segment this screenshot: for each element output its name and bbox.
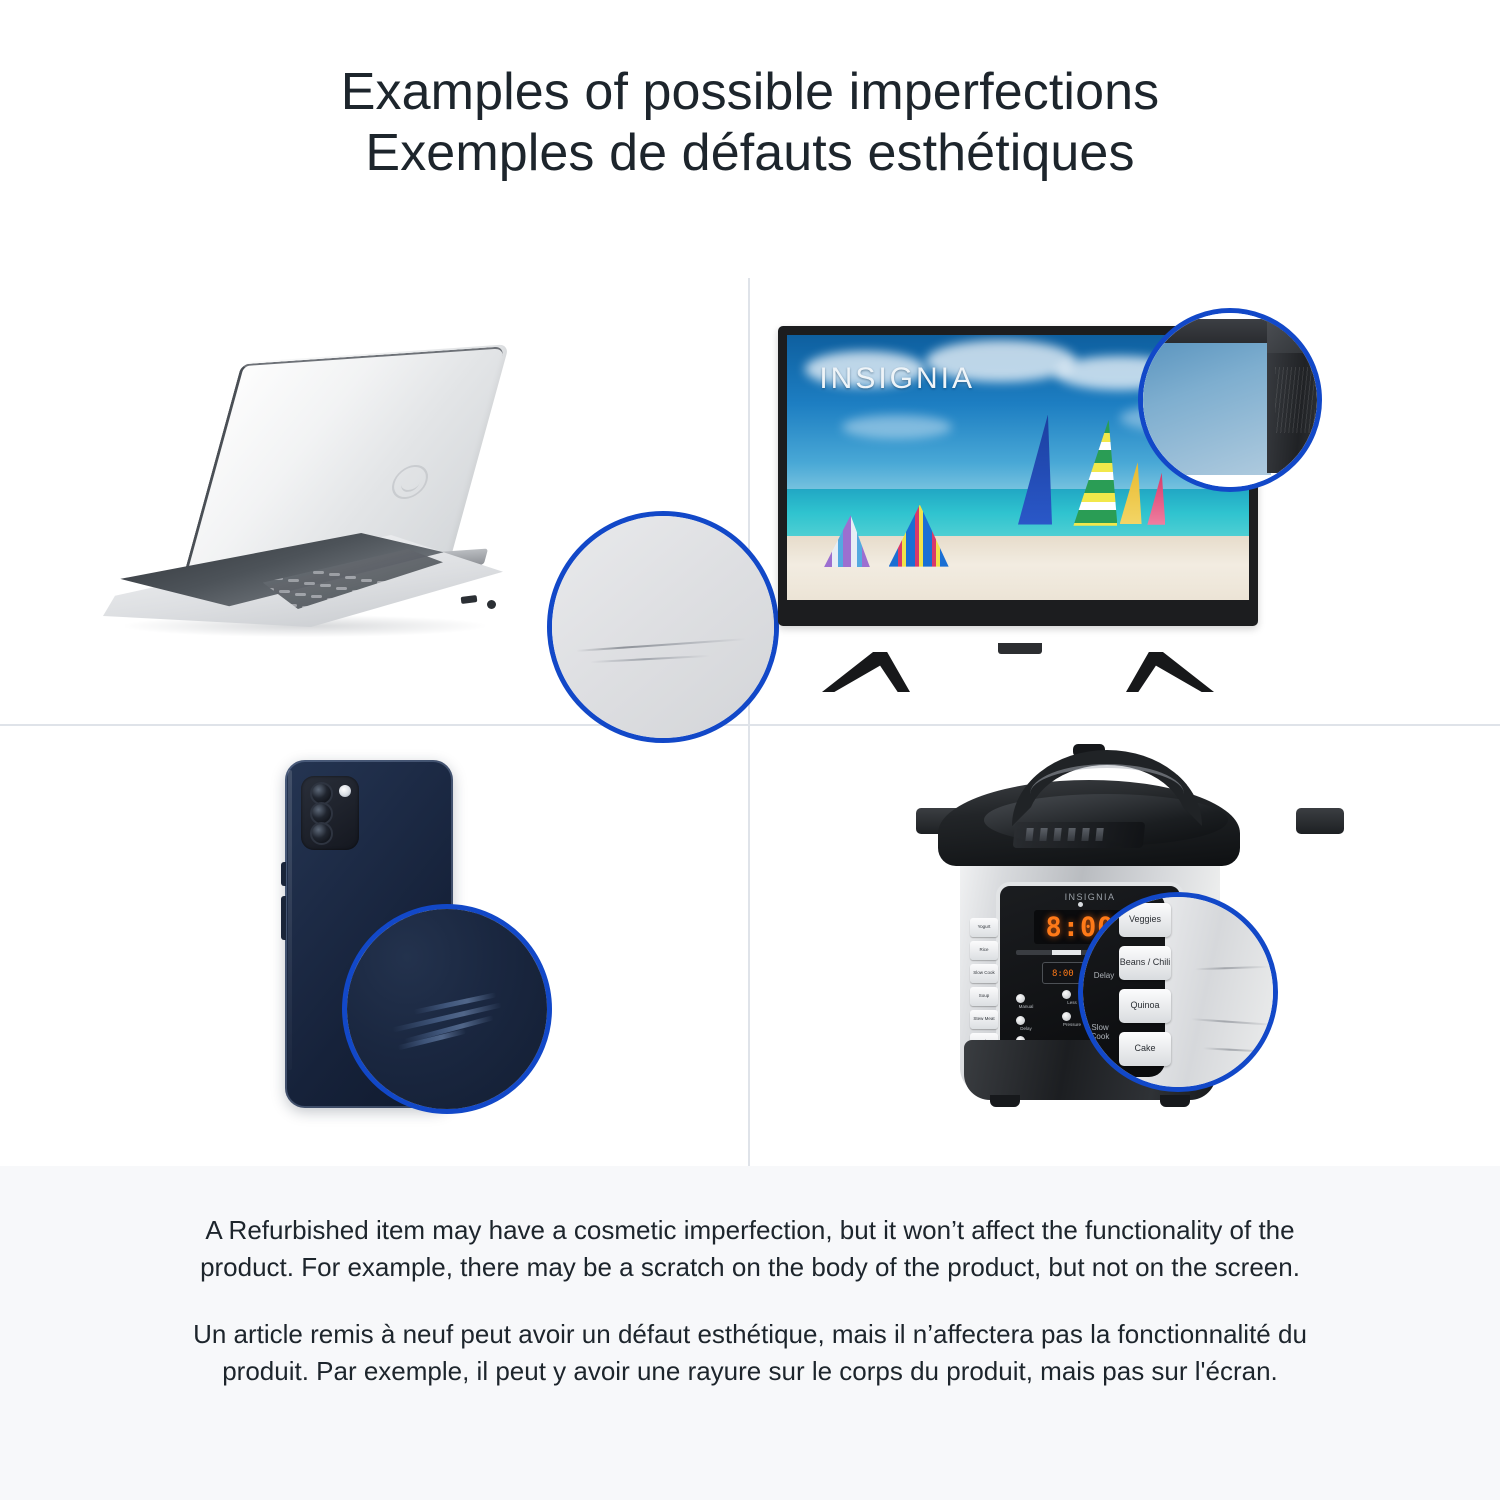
cooker-inner-button[interactable]	[1016, 1016, 1025, 1025]
camera-lens-icon	[310, 822, 333, 845]
cooker-foot	[1160, 1095, 1190, 1107]
cooker-inner-button-label: Manual	[1012, 1005, 1040, 1010]
tv-scuff-mark	[1275, 367, 1315, 433]
laptop-magnifier-circle	[547, 511, 779, 743]
cooker-magnified-side-label: Slow Cook	[1083, 1023, 1117, 1041]
cooker-magnified-key[interactable]: Quinoa	[1119, 989, 1171, 1023]
cooker-inner-button[interactable]	[1062, 990, 1071, 999]
laptop-panel	[0, 278, 748, 724]
cooker-magnified-side-label: Delay	[1087, 971, 1121, 980]
cooker-magnified-key[interactable]: Veggies	[1119, 903, 1171, 937]
cooker-key[interactable]: Soup	[970, 987, 998, 1006]
cooker-key[interactable]: Stew Meat	[970, 1010, 998, 1029]
title-english: Examples of possible imperfections	[0, 62, 1500, 123]
phone-panel	[0, 726, 748, 1172]
cooker-key[interactable]: Yogurt	[970, 918, 998, 937]
tv-stand-left	[822, 652, 910, 692]
cooker-magnified-key[interactable]: Beans / Chili	[1119, 946, 1171, 980]
laptop-magnified-surface	[552, 516, 774, 738]
infographic-page: Examples of possible imperfections Exemp…	[0, 0, 1500, 1500]
cooker-magnifier-circle: VeggiesBeans / ChiliQuinoaCake DelaySlow…	[1078, 892, 1278, 1092]
cooker-handle-right	[1296, 808, 1344, 834]
tv-brand-logo: INSIGNIA	[819, 362, 975, 396]
footer-paragraph-french: Un article remis à neuf peut avoir un dé…	[186, 1316, 1314, 1390]
tv-stand-right	[1126, 652, 1214, 692]
cooker-magnified-key[interactable]: Cake	[1119, 1032, 1171, 1066]
cooker-foot	[990, 1095, 1020, 1107]
cooker-inner-button-label: Pressure	[1058, 1023, 1086, 1028]
cooker-inner-button[interactable]	[1062, 1012, 1071, 1021]
phone-magnifier-circle	[342, 904, 552, 1114]
examples-grid: INSIGNIA	[0, 278, 1500, 1166]
page-title: Examples of possible imperfections Exemp…	[0, 62, 1500, 185]
cooker-magnified-keys: VeggiesBeans / ChiliQuinoaCake	[1119, 903, 1171, 1066]
pressure-cooker-panel: INSIGNIA 8:00 8:00 YogurtRiceSlow CookSo…	[750, 726, 1498, 1172]
tv-magnified-corner	[1267, 319, 1322, 353]
laptop-audio-port	[487, 600, 496, 609]
cooker-key[interactable]: Rice	[970, 941, 998, 960]
phone-illustration	[230, 754, 520, 1144]
cooker-inner-button[interactable]	[1016, 994, 1025, 1003]
cooker-lid	[938, 780, 1240, 866]
cooker-keys-left[interactable]: YogurtRiceSlow CookSoupStew MeatPoultry	[970, 918, 998, 1052]
title-french: Exemples de défauts esthétiques	[0, 123, 1500, 184]
footer-description: A Refurbished item may have a cosmetic i…	[0, 1166, 1500, 1500]
tv-scene-cloud	[842, 415, 952, 439]
cooker-inner-button-label: Delay	[1012, 1027, 1040, 1032]
footer-paragraph-english: A Refurbished item may have a cosmetic i…	[186, 1212, 1314, 1286]
camera-flash-icon	[339, 785, 351, 797]
cooker-key[interactable]: Slow Cook	[970, 964, 998, 983]
phone-camera-module	[301, 776, 359, 850]
tv-panel: INSIGNIA	[750, 278, 1498, 724]
phone-power-button	[281, 862, 286, 886]
tv-magnifier-circle	[1138, 308, 1322, 492]
tv-magnified-screen	[1139, 335, 1271, 475]
tv-illustration: INSIGNIA	[770, 308, 1270, 698]
laptop-illustration	[95, 353, 565, 653]
cooker-sub-display-value: 8:00	[1052, 969, 1074, 979]
phone-magnified-surface	[347, 909, 547, 1109]
phone-volume-button	[281, 896, 286, 940]
laptop-usb-port	[461, 595, 478, 604]
pressure-cooker-illustration: INSIGNIA 8:00 8:00 YogurtRiceSlow CookSo…	[920, 744, 1340, 1154]
phone-highlight	[288, 770, 292, 1070]
tv-ir-receiver	[998, 643, 1042, 654]
